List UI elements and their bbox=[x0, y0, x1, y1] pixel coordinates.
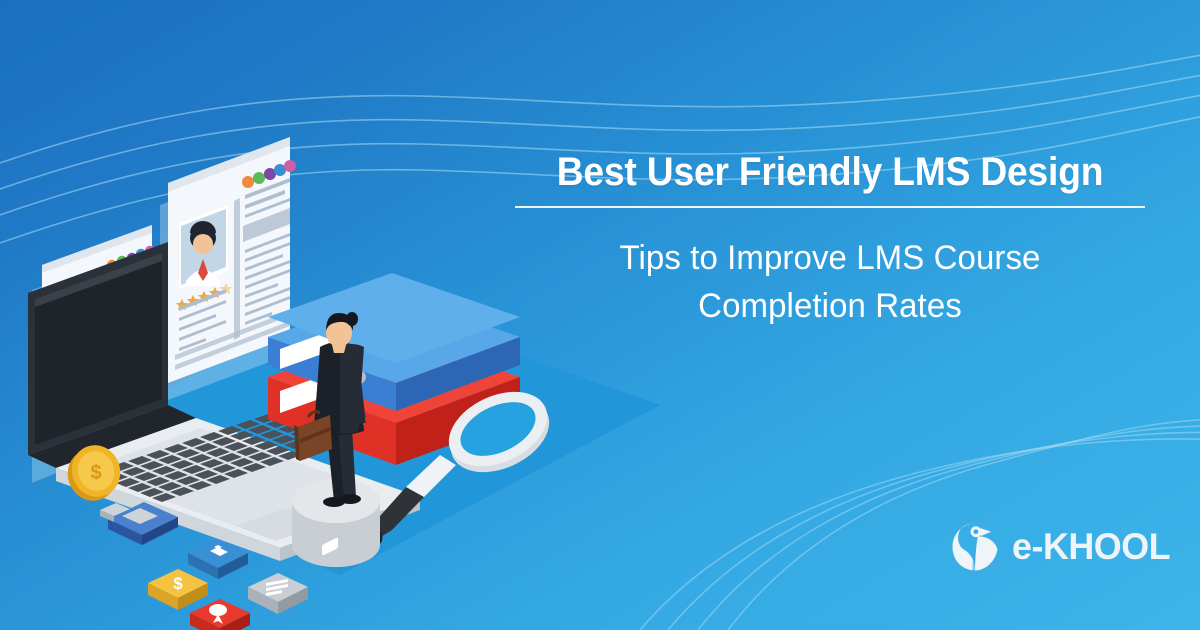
text-block: Best User Friendly LMS Design Tips to Im… bbox=[500, 150, 1160, 330]
page-subtitle-line-1: Tips to Improve LMS Course bbox=[510, 234, 1150, 282]
svg-text:$: $ bbox=[173, 574, 183, 593]
app-tile-award bbox=[190, 599, 250, 630]
ekhool-logo[interactable]: e-KHOOL bbox=[948, 520, 1175, 574]
app-tile-dollar: $ bbox=[148, 569, 208, 610]
page-subtitle-line-2: Completion Rates bbox=[510, 282, 1150, 330]
ekhool-leaf-circle-mark bbox=[948, 520, 1002, 574]
ekhool-logo-text: e-KHOOL bbox=[1012, 526, 1170, 568]
lms-banner: $ $ bbox=[0, 0, 1200, 630]
page-subtitle: Tips to Improve LMS Course Completion Ra… bbox=[510, 234, 1150, 331]
title-underline bbox=[515, 206, 1145, 208]
svg-text:$: $ bbox=[90, 462, 101, 484]
app-tile-document bbox=[248, 573, 308, 614]
page-title: Best User Friendly LMS Design bbox=[523, 150, 1137, 195]
